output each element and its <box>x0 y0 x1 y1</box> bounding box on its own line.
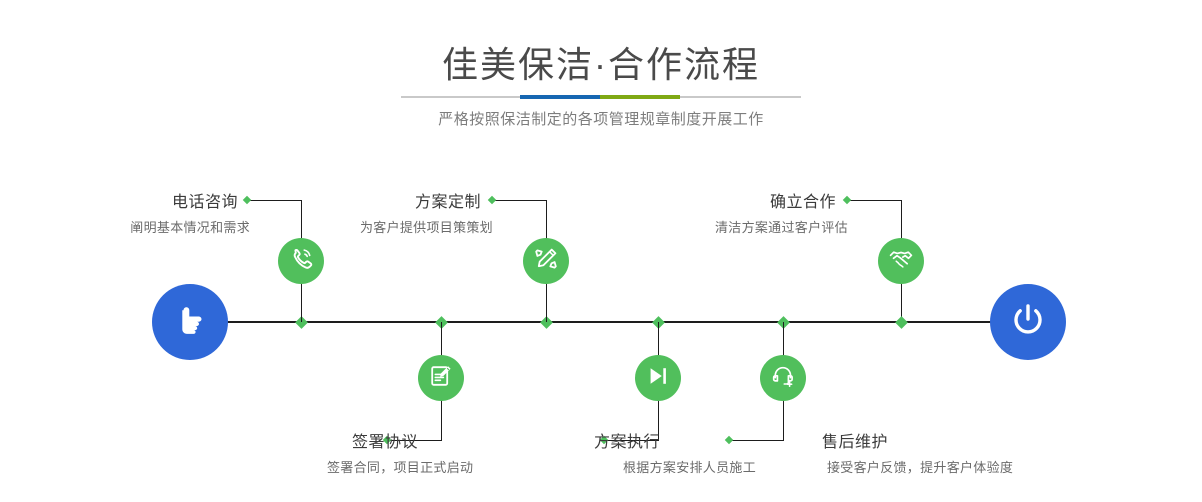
power-icon <box>1007 299 1049 346</box>
headset-plus-icon <box>770 363 796 394</box>
step-1-connector-horizontal <box>247 200 302 201</box>
step-3-title: 方案定制 <box>303 188 481 212</box>
step-1-title: 电话咨询 <box>60 188 238 212</box>
play-skip-icon <box>645 363 671 394</box>
step-3-icon-badge <box>523 238 569 284</box>
step-4-icon-badge <box>635 355 681 401</box>
step-5-title: 确立合作 <box>658 188 836 212</box>
timeline-diagram: 电话咨询 阐明基本情况和需求 <box>0 140 1202 502</box>
step-6-connector-horizontal <box>729 440 784 441</box>
step-3-label-diamond <box>488 196 496 204</box>
step-5-connector-horizontal <box>847 200 902 201</box>
page-title: 佳美保洁·合作流程 <box>0 36 1202 88</box>
step-5-label-diamond <box>843 196 851 204</box>
title-divider-blue-segment <box>520 95 600 99</box>
step-1-label-diamond <box>243 196 251 204</box>
phone-call-icon <box>288 246 314 277</box>
document-pencil-icon <box>428 363 454 394</box>
step-5-desc: 清洁方案通过客户评估 <box>598 217 848 236</box>
step-6-desc: 接受客户反馈，提升客户体验度 <box>827 457 1013 476</box>
step-4-title: 方案执行 <box>594 428 660 452</box>
step-2-title: 签署协议 <box>352 428 418 452</box>
step-6-icon-badge <box>760 355 806 401</box>
step-6-title: 售后维护 <box>822 428 888 452</box>
step-1-desc: 阐明基本情况和需求 <box>0 217 250 236</box>
step-4-desc: 根据方案安排人员施工 <box>623 457 756 476</box>
timeline-end-marker <box>990 284 1066 360</box>
axis-diamond-5b <box>895 316 908 329</box>
step-2-icon-badge <box>418 355 464 401</box>
pencil-ruler-icon <box>533 246 559 277</box>
title-divider-olive-segment <box>600 95 680 99</box>
step-3-connector-horizontal <box>492 200 547 201</box>
handshake-icon <box>888 246 914 277</box>
step-2-desc: 签署合同，项目正式启动 <box>327 457 473 476</box>
step-5-icon-badge <box>878 238 924 284</box>
pointing-hand-icon <box>170 300 210 345</box>
timeline-start-marker <box>152 284 228 360</box>
header-section: 佳美保洁·合作流程 严格按照保洁制定的各项管理规章制度开展工作 <box>0 0 1202 140</box>
page-subtitle: 严格按照保洁制定的各项管理规章制度开展工作 <box>0 108 1202 129</box>
cooperation-flow-infographic: 佳美保洁·合作流程 严格按照保洁制定的各项管理规章制度开展工作 <box>0 0 1202 502</box>
step-6-label-diamond <box>725 436 733 444</box>
step-3-desc: 为客户提供项目策策划 <box>243 217 493 236</box>
step-1-icon-badge <box>278 238 324 284</box>
